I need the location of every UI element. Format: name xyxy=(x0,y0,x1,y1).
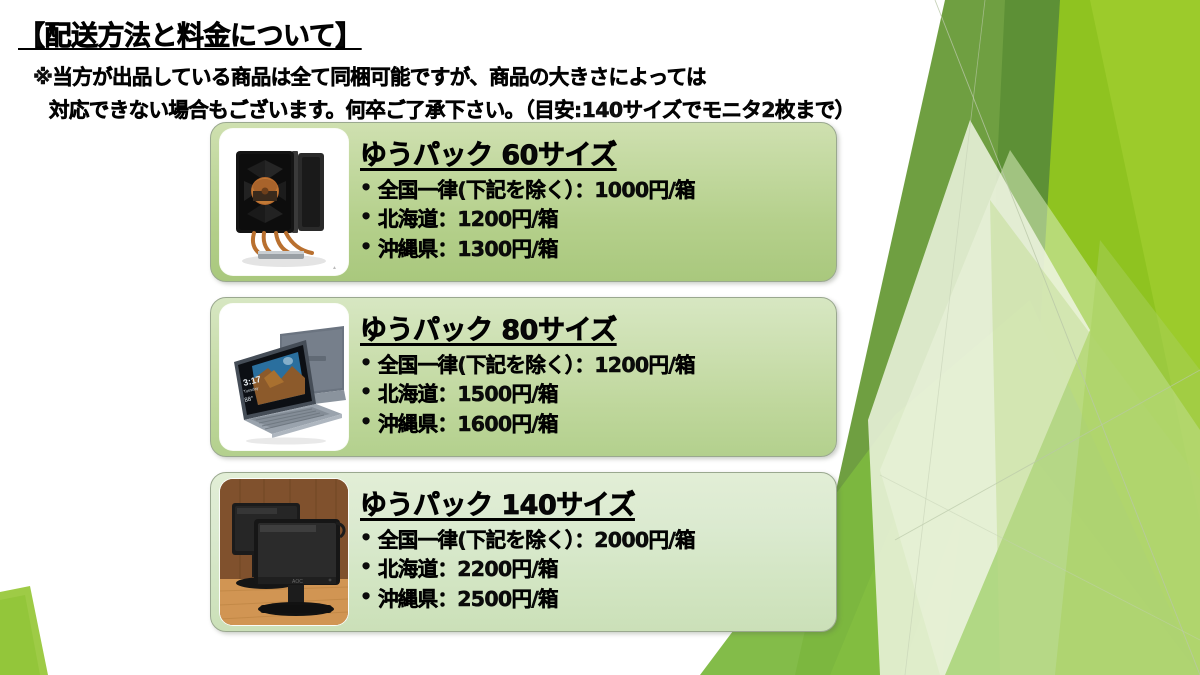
monitor-photo-icon: AOC xyxy=(220,479,348,625)
bg-shape-pale-4 xyxy=(1055,240,1200,675)
bg-hairline-1 xyxy=(935,0,1200,675)
price-item: 全国一律(下記を除く）：1000円/箱 xyxy=(360,176,828,205)
shipping-card-list: ▲ ゆうパック 60サイズ 全国一律(下記を除く）：1000円/箱 北海道：12… xyxy=(210,122,837,647)
bg-shape-lime-mid xyxy=(940,0,1200,675)
price-item: 全国一律(下記を除く）：1200円/箱 xyxy=(360,351,828,380)
price-item: 北海道：2200円/箱 xyxy=(360,555,828,584)
cpu-cooler-photo-icon: ▲ xyxy=(220,129,348,275)
svg-text:AOC: AOC xyxy=(292,579,303,585)
card-title-80: ゆうパック 80サイズ xyxy=(360,315,828,348)
product-thumbnail-80: 3:17 Tuesday 88° xyxy=(220,304,348,450)
card-body-140: ゆうパック 140サイズ 全国一律(下記を除く）：2000円/箱 北海道：220… xyxy=(348,490,828,613)
bg-shape-lime-right xyxy=(955,0,1200,675)
shipping-card-80: 3:17 Tuesday 88° ゆうパック 80サイズ 全国一律(下記を除く）… xyxy=(210,297,837,457)
price-item: 北海道：1500円/箱 xyxy=(360,380,828,409)
note-line-1: ※当方が出品している商品は全て同梱可能ですが、商品の大きさによっては xyxy=(0,53,900,90)
price-item: 沖縄県：1600円/箱 xyxy=(360,410,828,439)
product-thumbnail-140: AOC xyxy=(220,479,348,625)
price-item: 全国一律(下記を除く）：2000円/箱 xyxy=(360,526,828,555)
card-body-60: ゆうパック 60サイズ 全国一律(下記を除く）：1000円/箱 北海道：1200… xyxy=(348,140,828,263)
card-title-60: ゆうパック 60サイズ xyxy=(360,140,828,173)
bg-hairline-2 xyxy=(895,370,1200,540)
price-list-140: 全国一律(下記を除く）：2000円/箱 北海道：2200円/箱 沖縄県：2500… xyxy=(360,526,828,613)
card-title-140: ゆうパック 140サイズ xyxy=(360,490,828,523)
bg-shape-pale-2 xyxy=(868,120,1090,675)
bg-shape-bottom-left-2 xyxy=(0,595,40,675)
price-item: 沖縄県：1300円/箱 xyxy=(360,235,828,264)
header: 【配送方法と料金について】 ※当方が出品している商品は全て同梱可能ですが、商品の… xyxy=(0,0,900,123)
svg-text:▲: ▲ xyxy=(332,265,337,271)
bg-shape-pale-1 xyxy=(880,150,1200,675)
price-list-80: 全国一律(下記を除く）：1200円/箱 北海道：1500円/箱 沖縄県：1600… xyxy=(360,351,828,438)
bg-shape-olive-deep xyxy=(985,0,1060,420)
card-body-80: ゆうパック 80サイズ 全国一律(下記を除く）：1200円/箱 北海道：1500… xyxy=(348,315,828,438)
shipping-card-140: AOC ゆうパック 140サイズ 全国一律(下記を除く）：2000円/箱 北海道… xyxy=(210,472,837,632)
bg-shape-pale-3 xyxy=(990,200,1200,675)
price-item: 沖縄県：2500円/箱 xyxy=(360,585,828,614)
product-thumbnail-60: ▲ xyxy=(220,129,348,275)
bg-shape-green-band-2 xyxy=(830,360,1200,675)
page-title: 【配送方法と料金について】 xyxy=(0,0,900,53)
bg-hairline-4 xyxy=(880,475,1200,640)
note-line-2: 対応できない場合もございます。何卒ご了承下さい。（目安:140サイズでモニタ2枚… xyxy=(0,90,900,123)
bg-shape-bottom-left xyxy=(0,586,48,675)
bg-hairline-3 xyxy=(905,0,985,675)
shipping-card-60: ▲ ゆうパック 60サイズ 全国一律(下記を除く）：1000円/箱 北海道：12… xyxy=(210,122,837,282)
price-item: 北海道：1200円/箱 xyxy=(360,205,828,234)
laptop-photo-icon: 3:17 Tuesday 88° xyxy=(220,304,348,450)
price-list-60: 全国一律(下記を除く）：1000円/箱 北海道：1200円/箱 沖縄県：1300… xyxy=(360,176,828,263)
